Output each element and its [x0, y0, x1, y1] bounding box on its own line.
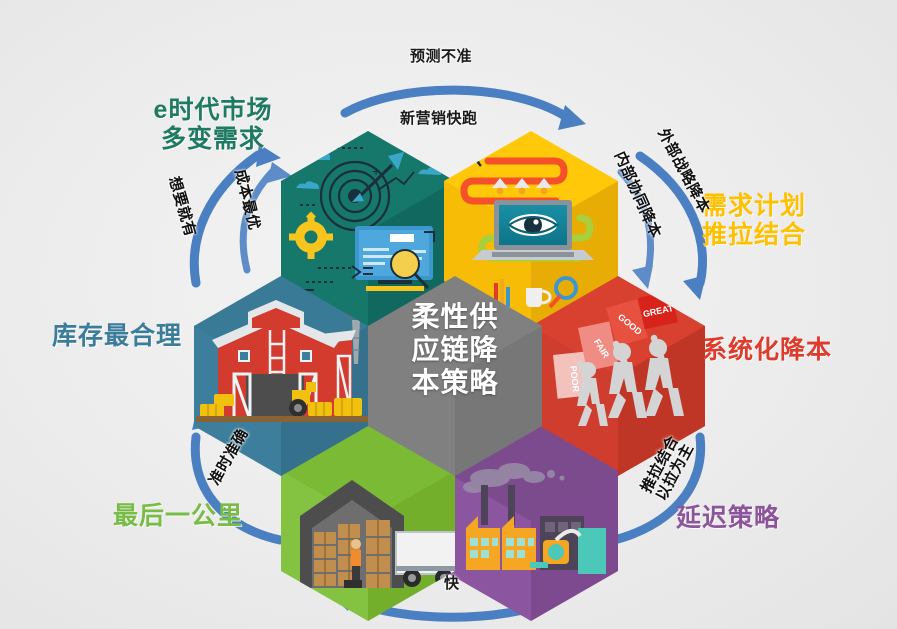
- arrow-label-marketing: 新营销快跑: [400, 107, 478, 128]
- label-lastmile: 最后一公里: [78, 502, 278, 531]
- diagram-canvas: +: [0, 0, 897, 629]
- arrow-label-fast: 快: [444, 572, 460, 593]
- label-delay: 延迟策略: [676, 504, 876, 533]
- arrow-label-forecast: 预测不准: [410, 45, 472, 66]
- label-system: 系统化降本: [702, 336, 897, 365]
- svg-text:+: +: [372, 163, 380, 179]
- supply-chain-cycle-diagram: +: [0, 0, 897, 629]
- label-demand: 需求计划 推拉结合: [702, 192, 892, 250]
- label-market: e时代市场 多变需求: [118, 96, 308, 154]
- label-inventory: 库存最合理: [22, 322, 212, 351]
